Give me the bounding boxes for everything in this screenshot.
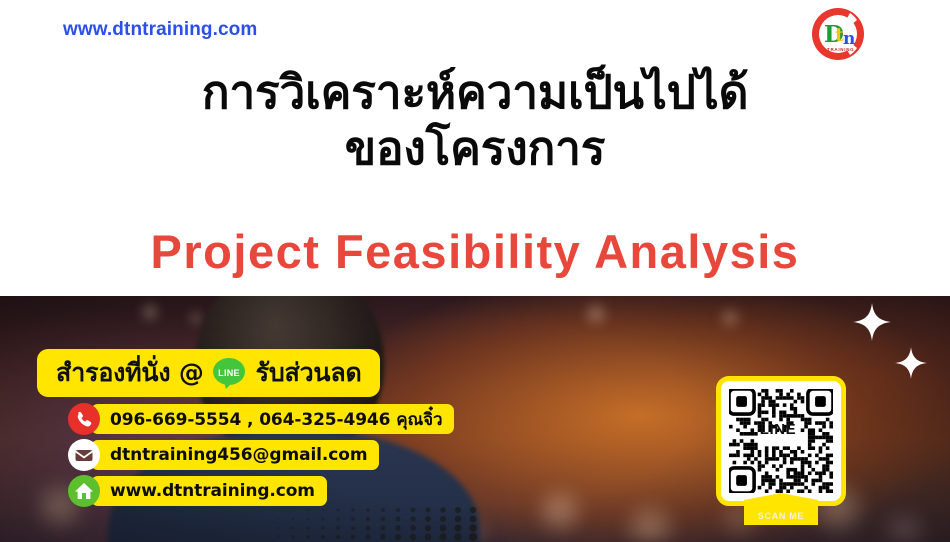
header-section: www.dtntraining.com D t n TRAINING การวิ…	[0, 0, 950, 296]
email-address: dtntraining456@gmail.com	[91, 440, 379, 470]
qr-code-frame: LINE	[716, 376, 846, 506]
reserve-text-after: รับส่วนลด	[256, 353, 362, 393]
promotional-banner: www.dtntraining.com D t n TRAINING การวิ…	[0, 0, 950, 542]
contact-row-phone[interactable]: 096-669-5554 , 064-325-4946 คุณจิ๋ว	[68, 403, 454, 435]
reserve-text-before: สำรองที่นั่ง @	[56, 353, 204, 393]
svg-text:TRAINING: TRAINING	[827, 47, 854, 52]
page-title: การวิเคราะห์ความเป็นไปได้ ของโครงการ	[0, 64, 950, 176]
contact-row-email[interactable]: dtntraining456@gmail.com	[68, 439, 379, 471]
envelope-icon	[68, 439, 100, 471]
line-icon: LINE	[213, 358, 247, 389]
page-subtitle-english: Project Feasibility Analysis	[0, 224, 950, 279]
qr-center-label: LINE	[721, 421, 835, 438]
site-url-text: www.dtntraining.com	[63, 19, 257, 41]
title-thai-line1: การวิเคราะห์ความเป็นไปได้	[0, 64, 950, 120]
home-icon	[68, 475, 100, 507]
contact-row-website[interactable]: www.dtntraining.com	[68, 475, 327, 507]
svg-text:n: n	[843, 29, 855, 49]
website-url: www.dtntraining.com	[91, 476, 327, 506]
qr-code-image	[729, 389, 833, 493]
reserve-seat-badge[interactable]: สำรองที่นั่ง @ LINE รับส่วนลด	[37, 349, 380, 397]
dtn-training-logo: D t n TRAINING	[810, 6, 866, 62]
qr-code-block[interactable]: LINE SCAN ME	[716, 376, 846, 536]
title-thai-line2: ของโครงการ	[0, 120, 950, 176]
svg-text:LINE: LINE	[218, 368, 240, 378]
phone-icon	[68, 403, 100, 435]
phone-numbers: 096-669-5554 , 064-325-4946 คุณจิ๋ว	[91, 404, 454, 434]
scan-me-label: SCAN ME	[758, 511, 804, 521]
